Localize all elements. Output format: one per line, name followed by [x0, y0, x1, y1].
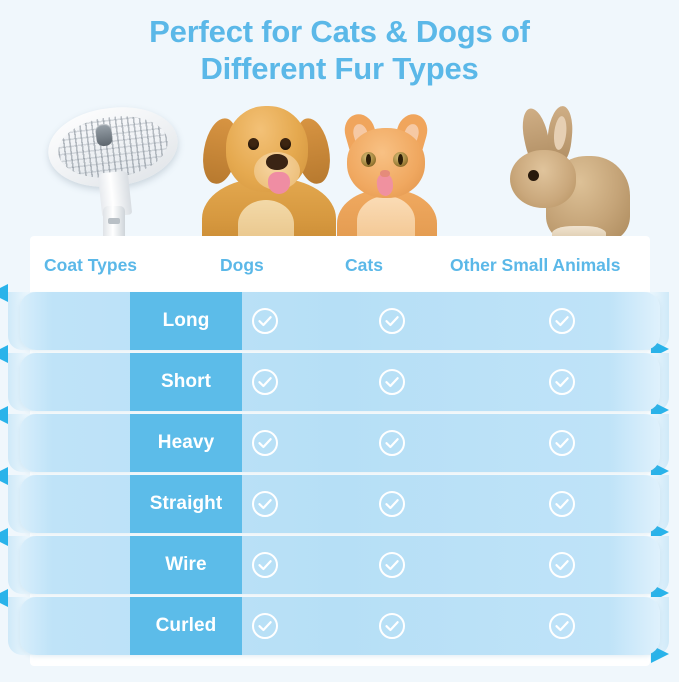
dog-photo [196, 96, 336, 244]
table-row: Straight [0, 475, 679, 533]
ribbon-band: Heavy [20, 414, 660, 472]
check-circle-icon-dogs [251, 612, 279, 640]
ribbon-notch-left [0, 467, 8, 485]
table-row: Curled [0, 597, 679, 655]
column-header-cats: Cats [345, 255, 383, 276]
table-rows: Long Short [0, 292, 679, 682]
ribbon-notch-left [0, 528, 8, 546]
page-title-line-2: Different Fur Types [0, 51, 679, 88]
check-circle-icon-dogs [251, 307, 279, 335]
check-circle-icon-cats [378, 429, 406, 457]
ribbon-notch-left [0, 406, 8, 424]
check-circle-icon-other-small-animals [548, 612, 576, 640]
coat-type-chip: Short [130, 353, 242, 411]
check-circle-icon-other-small-animals [548, 307, 576, 335]
column-header-coat-types: Coat Types [44, 255, 137, 276]
table-row: Long [0, 292, 679, 350]
coat-type-chip: Long [130, 292, 242, 350]
check-circle-icon-other-small-animals [548, 551, 576, 579]
coat-type-chip: Straight [130, 475, 242, 533]
ribbon-notch-left [0, 284, 8, 302]
dog-eye-right [280, 138, 291, 150]
check-circle-icon-cats [378, 368, 406, 396]
page-title-line-1: Perfect for Cats & Dogs of [0, 14, 679, 51]
cat-nose [380, 170, 390, 177]
brush-button [95, 123, 114, 147]
hero-image-strip [0, 96, 679, 244]
check-circle-icon-dogs [251, 490, 279, 518]
page-title: Perfect for Cats & Dogs of Different Fur… [0, 14, 679, 87]
cat-eye-right [393, 152, 408, 167]
ribbon-notch-left [0, 345, 8, 363]
ribbon-band: Curled [20, 597, 660, 655]
column-header-other-small-animals: Other Small Animals [450, 255, 621, 276]
check-circle-icon-other-small-animals [548, 368, 576, 396]
ribbon-band: Short [20, 353, 660, 411]
dog-nose [266, 154, 288, 170]
check-circle-icon-dogs [251, 429, 279, 457]
check-circle-icon-dogs [251, 368, 279, 396]
rabbit-photo [500, 104, 630, 244]
check-circle-icon-cats [378, 551, 406, 579]
dog-eye-left [248, 138, 259, 150]
column-header-dogs: Dogs [220, 255, 264, 276]
check-circle-icon-other-small-animals [548, 490, 576, 518]
cat-eye-left [361, 152, 376, 167]
check-circle-icon-cats [378, 612, 406, 640]
ribbon-notch-left [0, 589, 8, 607]
table-row: Wire [0, 536, 679, 594]
check-circle-icon-other-small-animals [548, 429, 576, 457]
table-row: Short [0, 353, 679, 411]
coat-type-chip: Wire [130, 536, 242, 594]
dog-tongue [268, 172, 290, 194]
check-circle-icon-cats [378, 490, 406, 518]
coat-type-chip: Curled [130, 597, 242, 655]
pet-grooming-brush-icon [40, 102, 190, 242]
brush-port [108, 218, 120, 224]
rabbit-head [510, 150, 576, 208]
table-row: Heavy [0, 414, 679, 472]
check-circle-icon-cats [378, 307, 406, 335]
cat-photo [335, 104, 439, 244]
coat-type-chip: Heavy [130, 414, 242, 472]
ribbon-band: Long [20, 292, 660, 350]
table-header-row: Coat Types Dogs Cats Other Small Animals [30, 236, 650, 292]
ribbon-band: Straight [20, 475, 660, 533]
check-circle-icon-dogs [251, 551, 279, 579]
rabbit-eye [528, 170, 539, 181]
ribbon-band: Wire [20, 536, 660, 594]
